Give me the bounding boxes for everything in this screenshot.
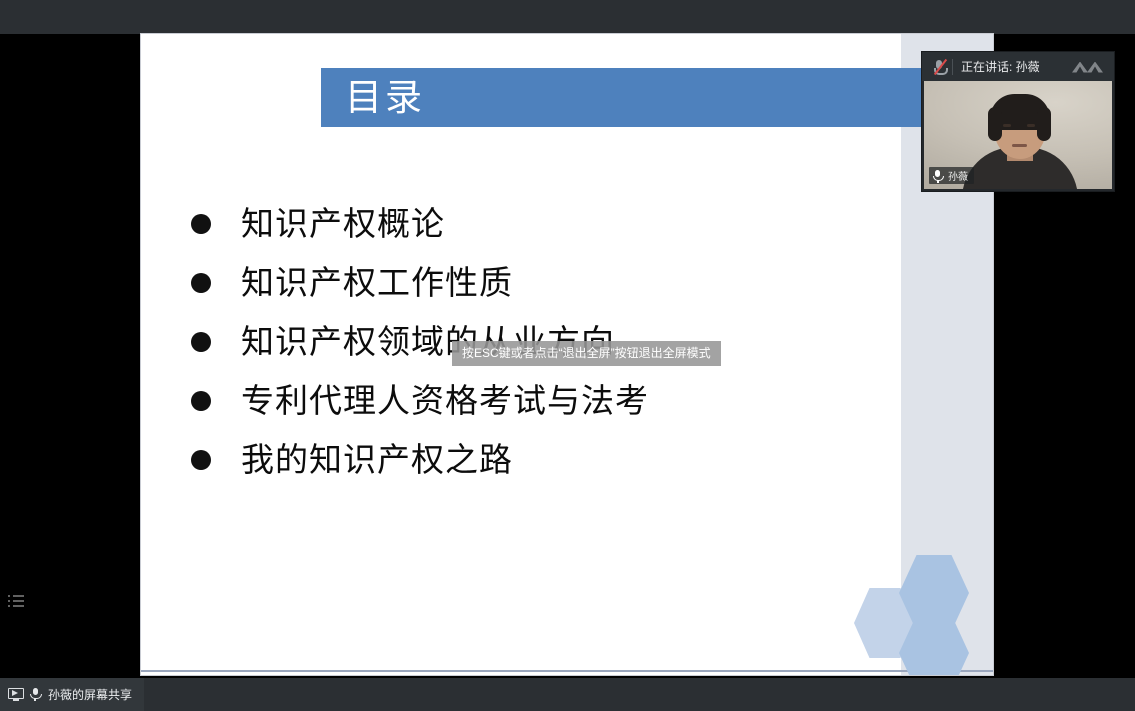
participant-name: 孙薇 xyxy=(948,168,968,183)
participant-eye-right xyxy=(1027,124,1035,127)
taskbar-item-screen-share[interactable]: 孙薇的屏幕共享 xyxy=(0,678,144,711)
list-icon-line xyxy=(13,605,24,607)
mic-muted-icon[interactable] xyxy=(932,59,946,75)
slide-title: 目录 xyxy=(345,72,425,124)
bullet-dot-icon xyxy=(191,273,211,293)
mic-icon xyxy=(29,687,41,702)
video-stage[interactable]: 孙薇 xyxy=(924,81,1112,189)
bullet-label: 我的知识产权之路 xyxy=(241,440,513,480)
bullet-dot-icon xyxy=(191,214,211,234)
bullet-item: 我的知识产权之路 xyxy=(191,430,891,489)
double-chevron-up-icon[interactable] xyxy=(1072,59,1106,75)
exit-fullscreen-tooltip: 按ESC键或者点击“退出全屏”按钮退出全屏模式 xyxy=(452,341,721,366)
screen-share-icon-arrow xyxy=(12,690,18,696)
bullet-label: 知识产权概论 xyxy=(241,204,445,244)
bullet-label: 知识产权工作性质 xyxy=(241,263,513,303)
taskbar-item-label: 孙薇的屏幕共享 xyxy=(48,686,132,703)
participant-name-badge: 孙薇 xyxy=(929,167,974,184)
mic-icon-stem xyxy=(34,698,36,701)
bullet-item: 知识产权概论 xyxy=(191,194,891,253)
mic-icon-base xyxy=(933,176,944,181)
header-divider xyxy=(952,59,953,75)
participant-eye-left xyxy=(1003,124,1011,127)
active-speaker-label: 正在讲话: 孙薇 xyxy=(961,58,1072,75)
video-panel-header[interactable]: 正在讲话: 孙薇 xyxy=(922,52,1114,81)
list-icon[interactable] xyxy=(8,594,24,608)
participant-mouth xyxy=(1012,144,1027,147)
bullet-item: 专利代理人资格考试与法考 xyxy=(191,371,891,430)
app-root: 目录 知识产权概论 知识产权工作性质 知识产权领域的从业方向 专利代理人资格考试… xyxy=(0,0,1135,711)
participant-hair-left xyxy=(988,107,1002,141)
bullet-label: 专利代理人资格考试与法考 xyxy=(241,381,649,421)
list-icon-line xyxy=(13,595,24,597)
slide-title-banner: 目录 xyxy=(321,68,975,127)
mic-icon-base xyxy=(30,694,42,699)
mic-icon-stem xyxy=(937,180,939,183)
list-icon-dot xyxy=(8,600,10,602)
screen-share-icon-stand xyxy=(13,699,19,701)
bullet-dot-icon xyxy=(191,450,211,470)
bullet-item: 知识产权工作性质 xyxy=(191,253,891,312)
mic-icon xyxy=(932,169,943,183)
top-bar xyxy=(0,0,1135,34)
screen-share-icon xyxy=(8,688,24,702)
list-icon-dot xyxy=(8,605,10,607)
participant-hair-right xyxy=(1037,107,1051,141)
active-speaker-video-panel[interactable]: 正在讲话: 孙薇 孙薇 xyxy=(922,52,1114,191)
list-icon-line xyxy=(13,600,24,602)
bullet-dot-icon xyxy=(191,391,211,411)
chevron-up-icon xyxy=(1087,62,1103,73)
hexagon-decoration xyxy=(854,555,984,675)
taskbar: 孙薇的屏幕共享 xyxy=(0,678,1135,711)
bullet-dot-icon xyxy=(191,332,211,352)
list-icon-dot xyxy=(8,595,10,597)
chevron-up-icon xyxy=(1072,62,1088,73)
